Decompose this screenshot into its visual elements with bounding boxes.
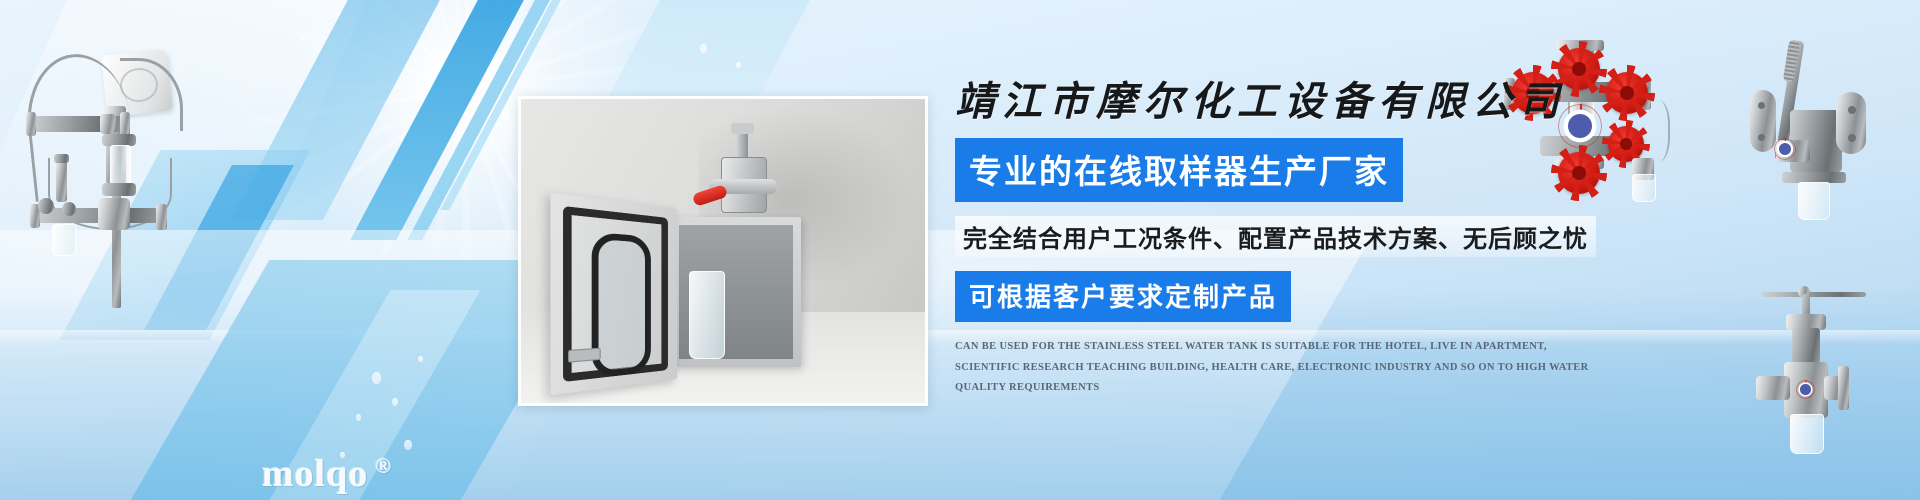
valve-flange-right-hole xyxy=(1848,106,1856,114)
valve-flange-left xyxy=(1750,90,1776,152)
photo-valve-cap xyxy=(731,123,754,134)
water-droplet xyxy=(372,372,381,384)
brand-emblem-core xyxy=(1779,143,1791,155)
water-droplet xyxy=(404,440,412,450)
tagline-badge: 可根据客户要求定制产品 xyxy=(955,271,1291,322)
water-droplet xyxy=(700,44,707,53)
water-droplet xyxy=(392,398,398,406)
photo-cabinet-door xyxy=(550,193,677,396)
needle-valve-tbar xyxy=(1762,292,1866,297)
sampler-lower-body xyxy=(98,198,130,230)
banner-copy: 靖江市摩尔化工设备有限公司 专业的在线取样器生产厂家 完全结合用户工况条件、配置… xyxy=(955,78,1745,399)
sampler-flange xyxy=(156,204,167,230)
photo-sampling-valve xyxy=(707,127,779,225)
company-name: 靖江市摩尔化工设备有限公司 xyxy=(955,78,1745,125)
sampler-knob xyxy=(62,202,76,216)
brand-emblem-icon xyxy=(1796,380,1815,399)
sampler-glass-cap-bottom xyxy=(102,183,136,196)
valve-flange-left-hole xyxy=(1758,134,1765,141)
photo-sample-bottle xyxy=(689,271,725,359)
sampler-knob xyxy=(38,198,54,214)
hero-product-photo[interactable] xyxy=(518,96,928,406)
water-droplet xyxy=(356,414,361,421)
valve-sample-bottle xyxy=(1798,182,1830,220)
sampler-flange xyxy=(26,112,36,136)
product-needle-valve xyxy=(1762,272,1920,452)
watermark-text: molqo xyxy=(262,452,368,496)
registered-trademark-icon: ® xyxy=(375,454,392,479)
product-left-sampler xyxy=(8,18,198,308)
sampler-union xyxy=(100,114,116,134)
sampler-flange xyxy=(120,112,130,136)
needle-valve-neck xyxy=(1792,328,1820,364)
sampler-relief-cap xyxy=(54,154,69,163)
headline-badge: 专业的在线取样器生产厂家 xyxy=(955,138,1403,202)
english-description: CAN BE USED FOR THE STAINLESS STEEL WATE… xyxy=(955,337,1595,398)
sampler-sight-glass xyxy=(110,145,131,187)
needle-valve-port-left xyxy=(1756,376,1790,400)
brand-emblem-core xyxy=(1800,384,1811,395)
water-droplet xyxy=(736,62,741,68)
water-droplet xyxy=(300,36,304,41)
valve-flange-right xyxy=(1836,92,1866,154)
water-droplet xyxy=(418,356,423,362)
needle-valve-sample-bottle xyxy=(1790,414,1824,454)
sampler-relief-valve xyxy=(56,160,67,202)
watermark-logo: molqo ® xyxy=(262,452,392,496)
subline-text: 完全结合用户工况条件、配置产品技术方案、无后顾之忧 xyxy=(955,216,1596,257)
valve-flange-left-hole xyxy=(1758,102,1765,109)
sampler-sample-bottle xyxy=(52,224,76,256)
brand-emblem-icon xyxy=(1774,138,1796,160)
valve-flange-right-hole xyxy=(1848,134,1856,142)
promo-banner: 靖江市摩尔化工设备有限公司 专业的在线取样器生产厂家 完全结合用户工况条件、配置… xyxy=(0,0,1920,500)
needle-valve-flange-right xyxy=(1838,366,1849,410)
